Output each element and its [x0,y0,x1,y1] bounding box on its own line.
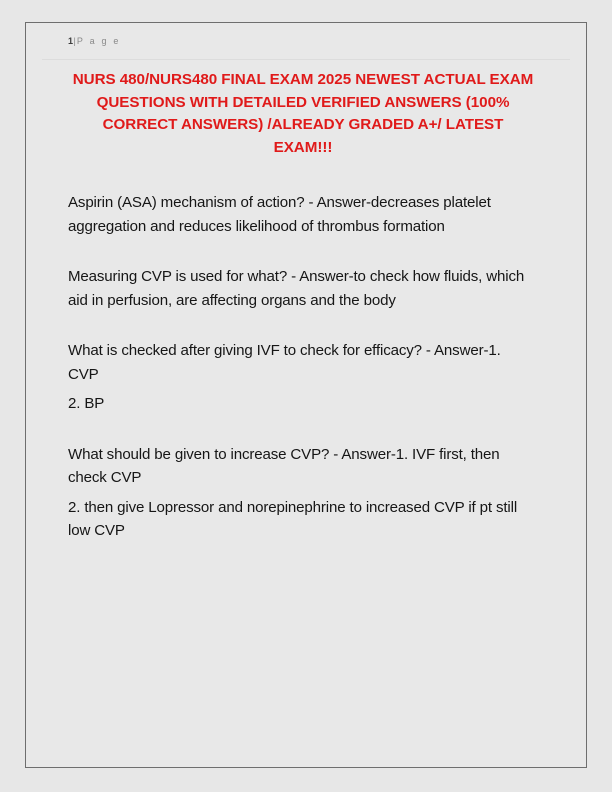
header-divider [42,59,570,60]
page-number-label: 1|P a g e [68,35,570,47]
qa-entry-4: What should be given to increase CVP? - … [68,443,534,490]
spacer-after-title [68,159,538,191]
spacer-3 [68,416,538,443]
document-title: NURS 480/NURS480 FINAL EXAM 2025 NEWEST … [68,69,538,159]
qa-entry-4-subline-1: 2. then give Lopressor and norepinephrin… [68,496,538,543]
qa-entry-2: Measuring CVP is used for what? - Answer… [68,265,534,312]
qa-entry-3-subline-1: 2. BP [68,392,538,416]
page-sheet: 1|P a g e NURS 480/NURS480 FINAL EXAM 20… [25,22,587,768]
running-header: 1|P a g e [68,35,570,57]
page-canvas: 1|P a g e NURS 480/NURS480 FINAL EXAM 20… [0,0,612,792]
spacer-1 [68,238,538,265]
qa-entry-1: Aspirin (ASA) mechanism of action? - Ans… [68,191,534,238]
qa-entry-3: What is checked after giving IVF to chec… [68,339,534,386]
header-page-word: P a g e [77,36,121,46]
document-content: NURS 480/NURS480 FINAL EXAM 2025 NEWEST … [68,69,538,543]
spacer-2 [68,312,538,339]
